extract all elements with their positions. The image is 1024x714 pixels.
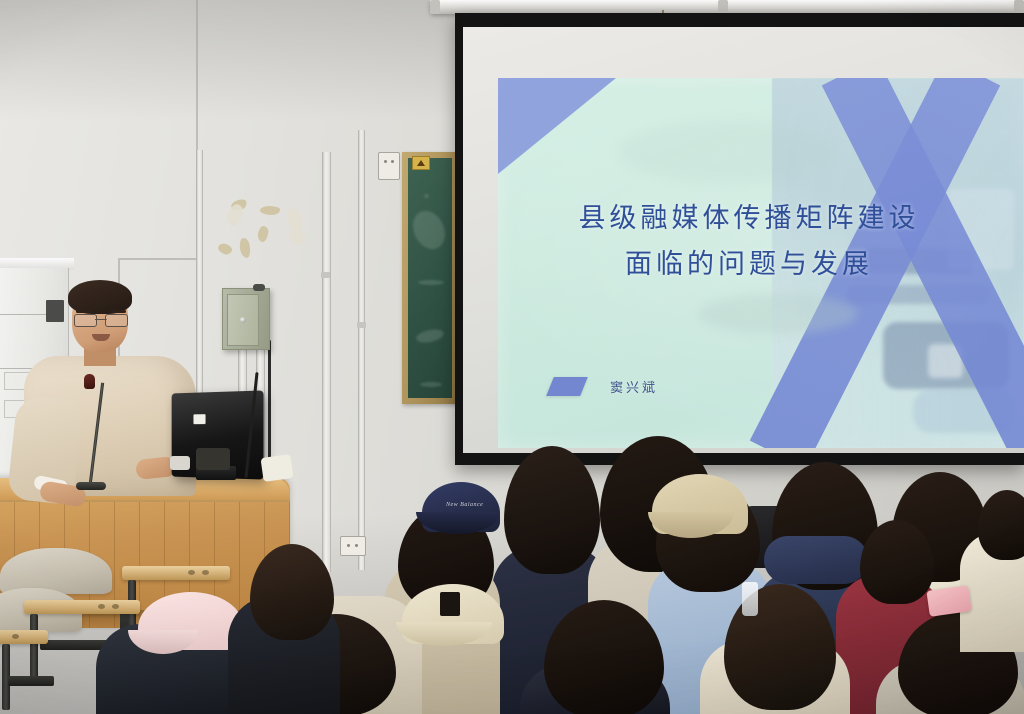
presentation-slide: 县级融媒体传播矩阵建设 面临的问题与发展 窦兴斌 [498,78,1024,448]
wall-socket [378,152,400,180]
presenter-name: 窦兴斌 [610,377,658,396]
wall-cable [268,340,271,468]
chalkboard-surface [408,158,452,398]
pipe-joint [357,322,366,328]
microphone-head [84,374,95,389]
slide-light-glare [698,294,858,334]
pipe-joint [321,272,330,278]
presenter-hair [68,280,132,314]
lecture-hall-photo: 县级融媒体传播矩阵建设 面临的问题与发展 窦兴斌 [0,0,1024,714]
wall-seam [120,258,198,260]
byline-parallelogram-mark [546,377,588,396]
glasses-icon [74,314,128,326]
navy-scarf [764,536,868,584]
electrical-box-conduit-cap [253,284,265,291]
slide-title-line-1: 县级融媒体传播矩阵建设 [498,196,1000,242]
wall-socket [340,536,366,556]
water-bottle [742,582,758,616]
monitor-sticker [193,414,205,424]
electrical-box-knob [240,317,246,323]
microphone-base [76,482,106,490]
slide-byline: 窦兴斌 [550,377,658,396]
cap-brand-text: New Balance [446,502,483,508]
slide-light-glare [618,120,838,184]
projector-screen-roller [430,0,1024,14]
chalkboard-warning-badge [412,156,430,170]
cap-back-opening [440,592,460,616]
slide-title-line-2: 面临的问题与发展 [498,242,1000,288]
desk-paper [260,454,293,482]
slide-corner-triangle [498,78,616,174]
presenter-eyebrow [110,310,126,313]
wall-paint-peel [260,206,280,215]
wall-conduit-pipe [358,130,365,570]
desk-clutter [170,456,190,470]
chalkboard [402,152,458,404]
slide-title: 县级融媒体传播矩阵建设 面临的问题与发展 [498,196,1024,289]
electrical-box [222,288,270,350]
presenter-eyebrow [76,310,92,313]
desk-clutter [196,448,230,470]
wall-conduit-pipe [322,152,331,572]
